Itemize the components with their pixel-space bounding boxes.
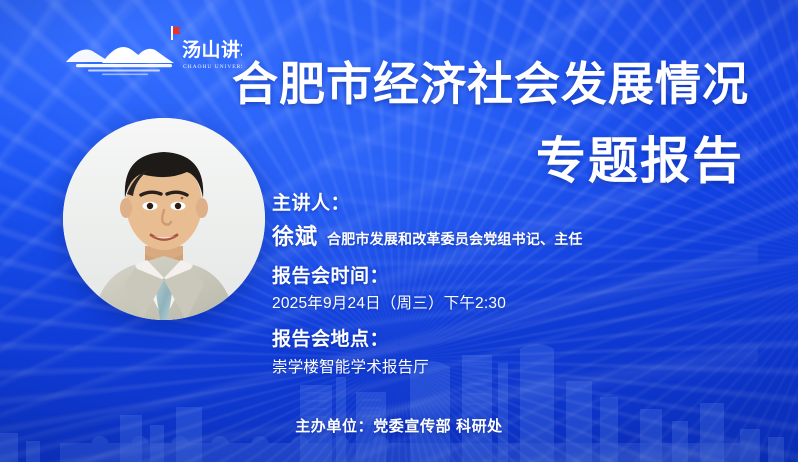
speaker-label: 主讲人： xyxy=(272,190,702,218)
event-info-block: 主讲人： 徐斌 合肥市发展和改革委员会党组书记、主任 报告会时间： 2025年9… xyxy=(272,190,702,379)
chaohu-university-logo: 汤山讲坛 CHAOHU UNIVERSITY xyxy=(62,22,242,78)
speaker-name: 徐斌 xyxy=(272,219,318,251)
poster-canvas: 汤山讲坛 CHAOHU UNIVERSITY 合肥市经济社会发展情况 专题报告 xyxy=(0,0,798,462)
poster-title-line-2: 专题报告 xyxy=(536,136,744,186)
time-value: 2025年9月24日（周三）下午2:30 xyxy=(272,292,702,315)
speaker-job-title: 合肥市发展和改革委员会党组书记、主任 xyxy=(327,229,583,249)
speaker-portrait-avatar xyxy=(63,118,265,320)
organizer-footer: 主办单位：党委宣传部 科研处 xyxy=(0,415,798,436)
poster-title-line-1: 合肥市经济社会发展情况 xyxy=(232,61,749,107)
time-label: 报告会时间： xyxy=(272,263,702,291)
place-label: 报告会地点： xyxy=(272,326,702,354)
place-value: 崇学楼智能学术报告厅 xyxy=(272,356,702,379)
speaker-row: 徐斌 合肥市发展和改革委员会党组书记、主任 xyxy=(272,219,702,251)
